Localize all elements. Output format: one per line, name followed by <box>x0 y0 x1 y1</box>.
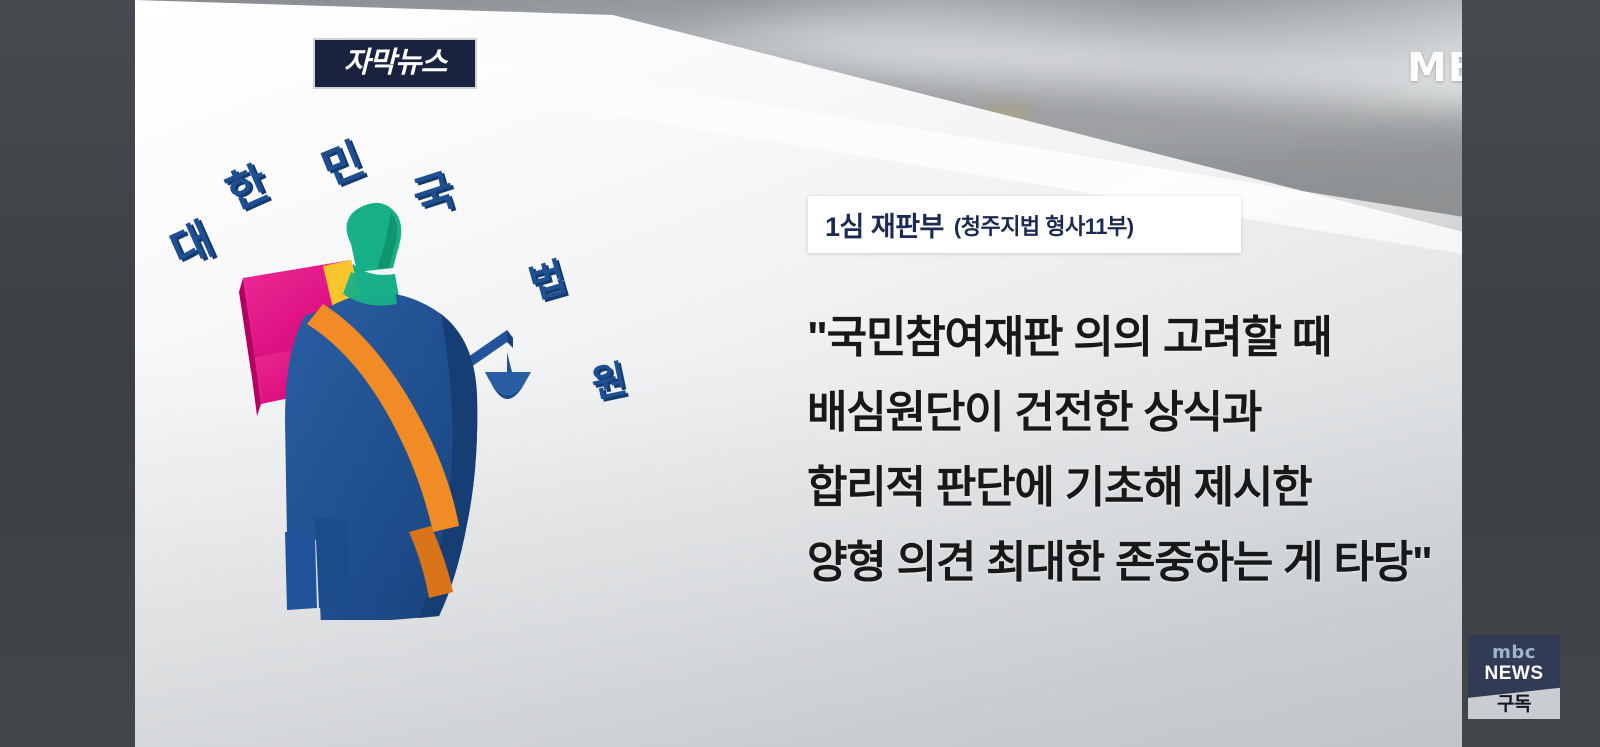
video-content-area: 대 대 한 한 민 민 국 국 <box>135 0 1462 747</box>
broadcast-frame: 대 대 한 한 민 민 국 국 <box>0 0 1600 747</box>
subscribe-news-label: NEWS <box>1468 664 1560 683</box>
subscribe-action-strip[interactable]: 구독 <box>1468 685 1560 719</box>
quote-line: 양형 의견 최대한 존중하는 게 타당" <box>807 525 1462 600</box>
caption-main-text: 1심 재판부 <box>825 205 944 244</box>
subscribe-action-label: 구독 <box>1468 695 1560 714</box>
korea-court-emblem: 대 대 한 한 민 민 국 국 <box>155 120 675 620</box>
subscribe-badge[interactable]: mbc NEWS 구독 <box>1468 635 1560 719</box>
caption-banner: 1심 재판부 (청주지법 형사11부) <box>808 196 1241 253</box>
subtitle-news-badge-label: 자막뉴스 <box>344 49 447 78</box>
quote-line: "국민참여재판 의의 고려할 때 <box>807 300 1462 375</box>
quote-block: "국민참여재판 의의 고려할 때 배심원단이 건전한 상식과 합리적 판단에 기… <box>807 300 1462 600</box>
caption-sub-text: (청주지법 형사11부) <box>954 209 1134 241</box>
mbc-watermark-logo: MBC <box>1407 45 1462 91</box>
letterbox-left <box>0 0 135 747</box>
svg-text:법: 법 <box>524 254 572 308</box>
subtitle-news-badge: 자막뉴스 <box>313 38 477 89</box>
quote-line: 배심원단이 건전한 상식과 <box>807 375 1462 450</box>
quote-line: 합리적 판단에 기초해 제시한 <box>807 450 1462 525</box>
subscribe-brand-label: mbc <box>1468 644 1560 662</box>
